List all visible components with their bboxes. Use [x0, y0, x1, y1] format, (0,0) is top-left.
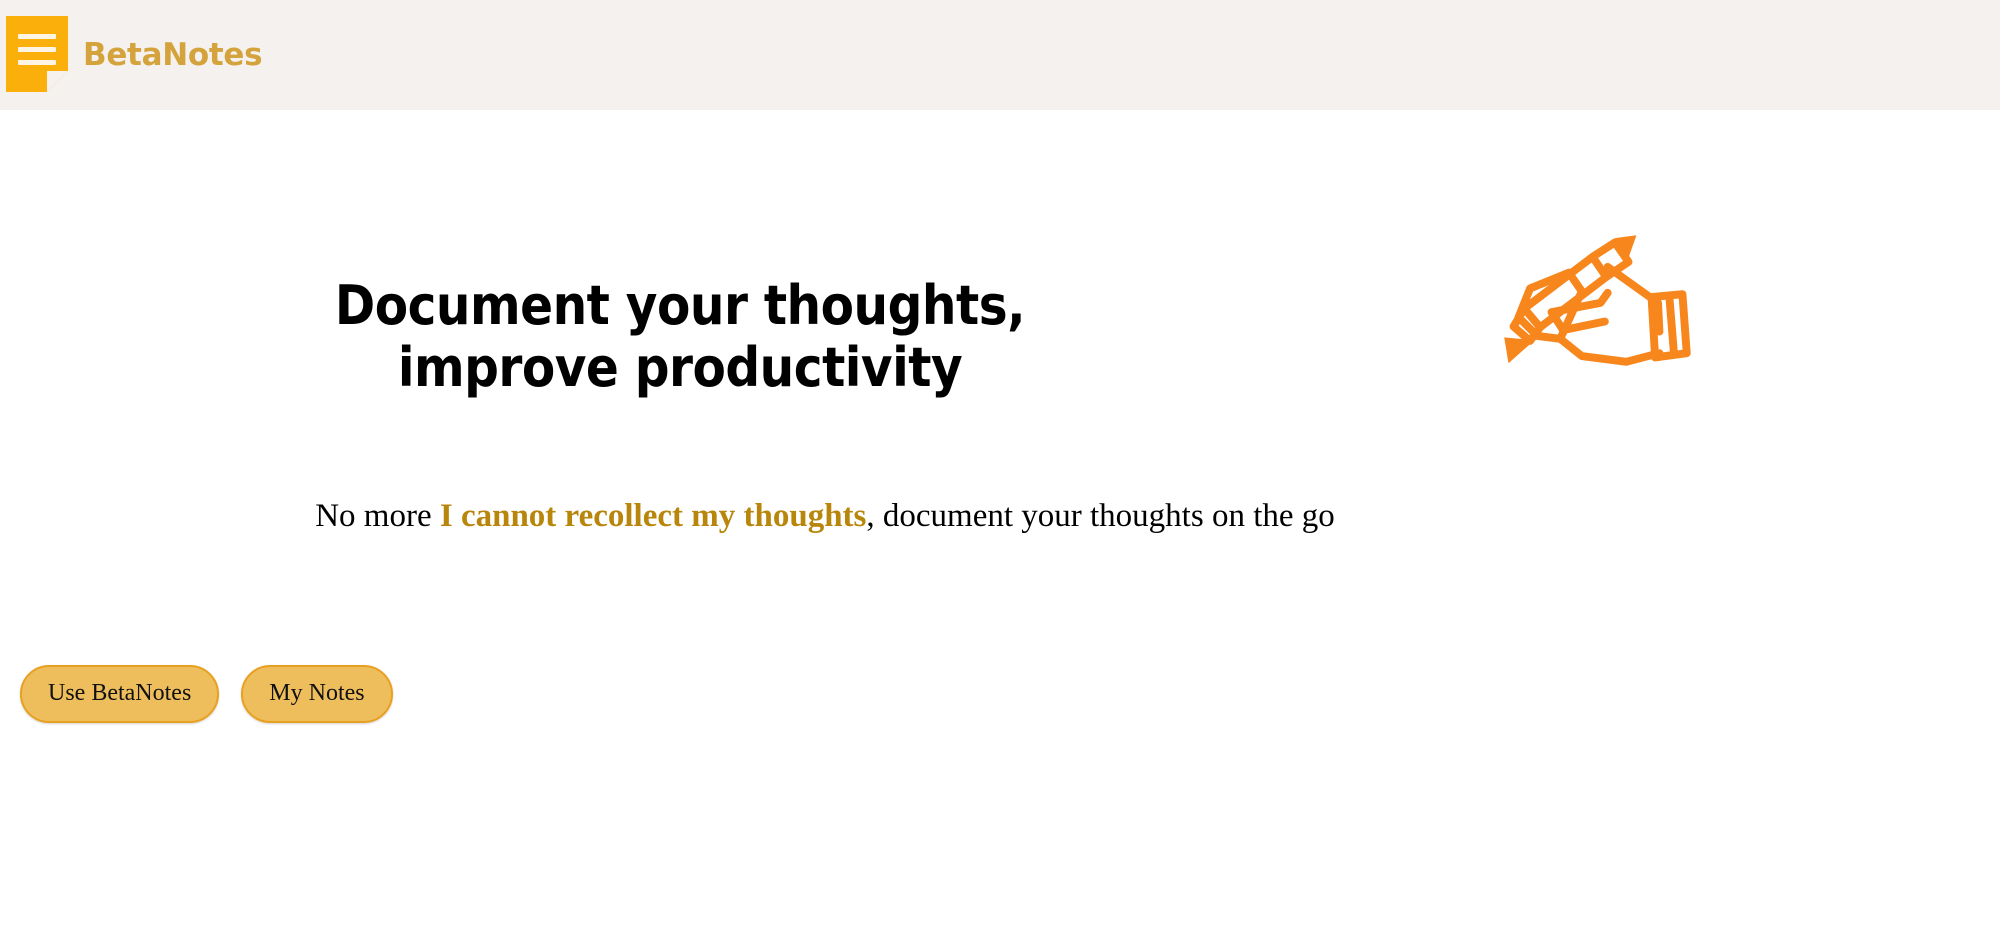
use-betanotes-button[interactable]: Use BetaNotes — [20, 665, 219, 723]
my-notes-button[interactable]: My Notes — [241, 665, 392, 723]
app-header: BetaNotes — [0, 0, 2000, 110]
hero-subtitle-tail: , document your thoughts on the go — [866, 498, 1334, 534]
hero-subtitle-accent: I cannot recollect my thoughts — [440, 498, 867, 534]
note-lines-icon — [6, 16, 68, 92]
hero-subtitle-lead: No more — [315, 498, 440, 534]
hand-holding-pencil-icon — [1474, 215, 1704, 395]
hero-action-buttons: Use BetaNotes My Notes — [20, 665, 393, 723]
brand-link[interactable]: BetaNotes — [0, 0, 262, 110]
hero-title: Document your thoughts, improve producti… — [270, 275, 1090, 399]
hero-section: Document your thoughts, improve producti… — [0, 110, 2000, 938]
hero-subtitle: No more I cannot recollect my thoughts, … — [270, 495, 1380, 538]
brand-name: BetaNotes — [83, 40, 262, 71]
